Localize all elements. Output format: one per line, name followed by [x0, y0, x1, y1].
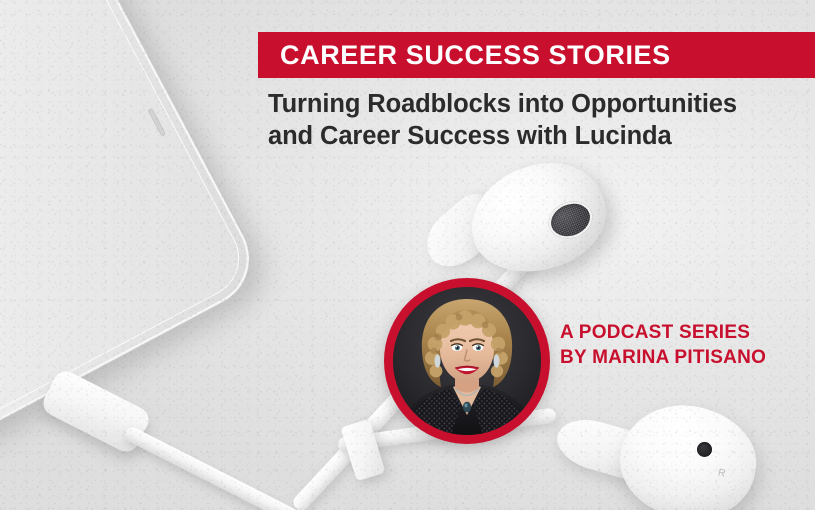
- podcast-credit-line-1: A PODCAST SERIES: [560, 320, 766, 345]
- series-title: CAREER SUCCESS STORIES: [280, 40, 671, 71]
- episode-subtitle-line-2: and Career Success with Lucinda: [268, 120, 808, 152]
- episode-subtitle-line-1: Turning Roadblocks into Opportunities: [268, 88, 808, 120]
- smartphone-prop: [0, 0, 263, 451]
- title-banner: CAREER SUCCESS STORIES: [258, 32, 815, 78]
- earbud-vent-hole: [697, 442, 712, 457]
- earbud-bottom-prop: [612, 396, 764, 510]
- episode-subtitle: Turning Roadblocks into Opportunities an…: [268, 88, 808, 152]
- podcast-cover-poster: R CAREER SUCCESS STORIES Turning Roadblo…: [0, 0, 815, 510]
- lightning-cable-prop: [123, 425, 317, 510]
- smartphone-bezel: [0, 0, 253, 442]
- host-portrait-circle: [384, 278, 550, 444]
- host-portrait-photo: [393, 287, 541, 435]
- podcast-credit-line-2: BY MARINA PITISANO: [560, 345, 766, 370]
- host-portrait-illustration: [393, 287, 541, 435]
- podcast-credit: A PODCAST SERIES BY MARINA PITISANO: [560, 320, 766, 370]
- earbud-top-prop: [457, 148, 618, 289]
